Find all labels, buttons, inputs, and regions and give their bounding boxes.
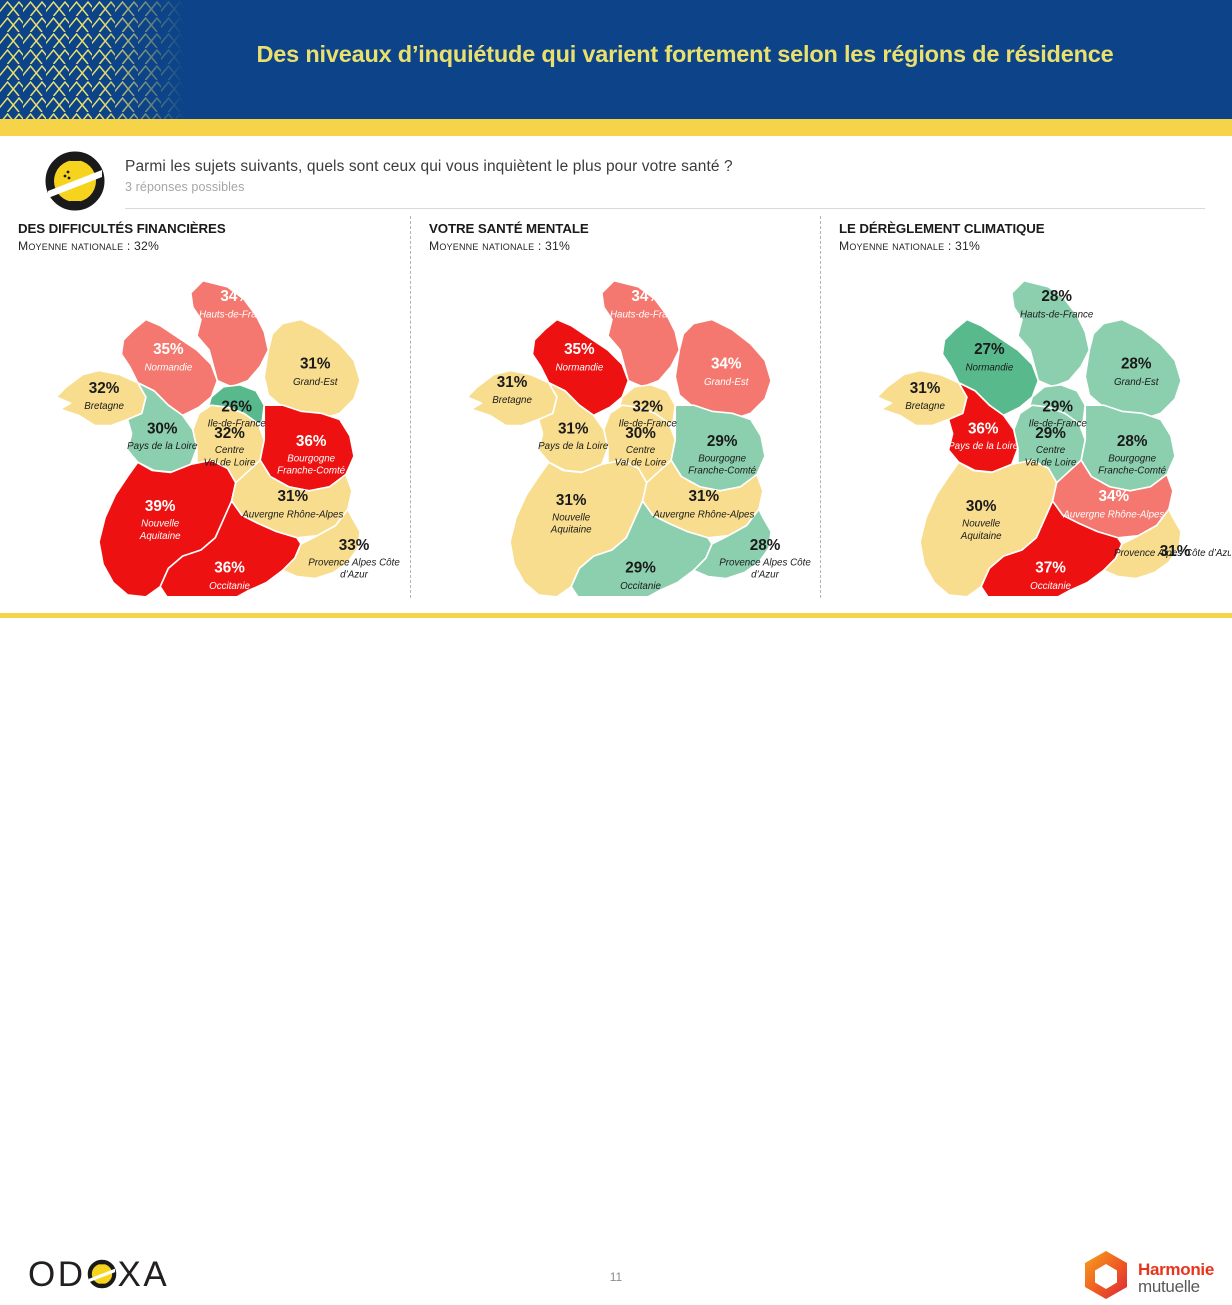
header-accent-bar bbox=[0, 119, 1232, 136]
region-value-bourgogne-franche-comte: 36% bbox=[296, 433, 327, 450]
france-map-2: 34%Hauts-de-France35%Normandie32%Ile-de-… bbox=[411, 238, 821, 596]
harmonie-mutuelle-logo: Harmonie mutuelle bbox=[1083, 1250, 1214, 1305]
region-value-normandie: 27% bbox=[974, 341, 1005, 358]
region-name-auvergne-rhone-alpes: Auvergne Rhône-Alpes bbox=[1062, 509, 1164, 520]
region-value-hauts-de-france: 28% bbox=[1041, 288, 1072, 305]
region-name-bretagne: Bretagne bbox=[84, 401, 124, 412]
panel-sante-mentale: VOTRE SANTÉ MENTALE Moyenne nationale : … bbox=[410, 216, 820, 598]
region-name-normandie: Normandie bbox=[965, 362, 1013, 373]
question-block: Parmi les sujets suivants, quels sont ce… bbox=[125, 158, 1205, 194]
region-value-centre-val-de-loire: 32% bbox=[214, 425, 245, 442]
page-title: Des niveaux d’inquiétude qui varient for… bbox=[185, 41, 1185, 68]
region-value-auvergne-rhone-alpes: 31% bbox=[689, 488, 720, 505]
france-map-3: 28%Hauts-de-France27%Normandie29%Ile-de-… bbox=[821, 238, 1231, 596]
region-value-nouvelle-aquitaine: 31% bbox=[556, 492, 587, 509]
region-value-grand-est: 28% bbox=[1121, 355, 1152, 372]
region-value-centre-val-de-loire: 29% bbox=[1035, 425, 1066, 442]
panel-title: LE DÉRÈGLEMENT CLIMATIQUE bbox=[839, 221, 1230, 236]
slide-header: Des niveaux d’inquiétude qui varient for… bbox=[0, 0, 1232, 119]
region-name-pays-de-la-loire: Pays de la Loire bbox=[127, 441, 198, 452]
region-value-normandie: 35% bbox=[564, 341, 595, 358]
region-name-grand-est: Grand-Est bbox=[704, 377, 750, 388]
region-value-bretagne: 31% bbox=[910, 380, 941, 397]
region-value-pays-de-la-loire: 30% bbox=[147, 421, 178, 438]
region-name-normandie: Normandie bbox=[144, 362, 192, 373]
region-value-occitanie: 29% bbox=[625, 559, 656, 576]
region-value-paca: 28% bbox=[750, 537, 781, 554]
region-value-normandie: 35% bbox=[153, 341, 184, 358]
region-name-pays-de-la-loire: Pays de la Loire bbox=[948, 441, 1019, 452]
region-value-hauts-de-france: 34% bbox=[220, 288, 251, 305]
region-name-occitanie: Occitanie bbox=[209, 581, 250, 592]
region-name-paca: Provence Alpes Côte d’Azur bbox=[1114, 548, 1231, 559]
harmonie-hexagon-icon bbox=[1083, 1250, 1129, 1305]
region-value-paca: 33% bbox=[339, 537, 370, 554]
region-value-auvergne-rhone-alpes: 34% bbox=[1099, 488, 1130, 505]
region-value-grand-est: 31% bbox=[300, 355, 331, 372]
question-note: 3 réponses possibles bbox=[125, 180, 1205, 194]
panel-title: DES DIFFICULTÉS FINANCIÈRES bbox=[18, 221, 410, 236]
region-name-hauts-de-france: Hauts-de-France bbox=[199, 309, 273, 320]
region-value-occitanie: 37% bbox=[1035, 559, 1066, 576]
region-name-grand-est: Grand-Est bbox=[1114, 377, 1160, 388]
question-divider bbox=[125, 208, 1205, 209]
region-name-nouvelle-aquitaine: NouvelleAquitaine bbox=[139, 519, 181, 542]
page-number: 11 bbox=[0, 1270, 1232, 1284]
panel-dereglement-climatique: LE DÉRÈGLEMENT CLIMATIQUE Moyenne nation… bbox=[820, 216, 1230, 598]
region-value-hauts-de-france: 34% bbox=[631, 288, 662, 305]
odoxa-logo-icon bbox=[44, 150, 106, 212]
region-value-bretagne: 31% bbox=[497, 374, 528, 391]
region-value-nouvelle-aquitaine: 30% bbox=[966, 498, 997, 515]
region-value-pays-de-la-loire: 31% bbox=[558, 421, 589, 438]
region-name-pays-de-la-loire: Pays de la Loire bbox=[538, 441, 609, 452]
region-name-occitanie: Occitanie bbox=[1030, 581, 1071, 592]
panel-title: VOTRE SANTÉ MENTALE bbox=[429, 221, 820, 236]
region-value-bourgogne-franche-comte: 28% bbox=[1117, 433, 1148, 450]
question-text: Parmi les sujets suivants, quels sont ce… bbox=[125, 158, 1205, 176]
region-name-hauts-de-france: Hauts-de-France bbox=[610, 309, 684, 320]
region-value-occitanie: 36% bbox=[214, 559, 245, 576]
region-name-auvergne-rhone-alpes: Auvergne Rhône-Alpes bbox=[241, 509, 343, 520]
region-value-centre-val-de-loire: 30% bbox=[625, 425, 656, 442]
region-value-ile-de-france: 29% bbox=[1042, 398, 1073, 415]
region-value-pays-de-la-loire: 36% bbox=[968, 421, 999, 438]
region-name-nouvelle-aquitaine: NouvelleAquitaine bbox=[960, 519, 1002, 542]
chevron-decoration bbox=[0, 0, 185, 119]
region-value-ile-de-france: 26% bbox=[221, 398, 252, 415]
region-name-bretagne: Bretagne bbox=[905, 401, 945, 412]
region-value-ile-de-france: 32% bbox=[632, 398, 663, 415]
region-name-auvergne-rhone-alpes: Auvergne Rhône-Alpes bbox=[652, 509, 754, 520]
region-name-occitanie: Occitanie bbox=[620, 581, 661, 592]
region-name-normandie: Normandie bbox=[555, 362, 603, 373]
harmonie-line-1: Harmonie bbox=[1138, 1261, 1214, 1278]
region-value-nouvelle-aquitaine: 39% bbox=[145, 498, 176, 515]
panel-difficultes-financieres: DES DIFFICULTÉS FINANCIÈRES Moyenne nati… bbox=[0, 216, 410, 598]
region-name-grand-est: Grand-Est bbox=[293, 377, 339, 388]
region-name-nouvelle-aquitaine: NouvelleAquitaine bbox=[550, 512, 592, 535]
region-value-auvergne-rhone-alpes: 31% bbox=[278, 488, 309, 505]
slide-footer: OD XA 11 bbox=[0, 618, 1232, 694]
harmonie-line-2: mutuelle bbox=[1138, 1278, 1214, 1295]
maps-row: DES DIFFICULTÉS FINANCIÈRES Moyenne nati… bbox=[0, 216, 1232, 598]
region-value-bourgogne-franche-comte: 29% bbox=[707, 433, 738, 450]
region-name-hauts-de-france: Hauts-de-France bbox=[1020, 309, 1094, 320]
region-name-bretagne: Bretagne bbox=[492, 395, 532, 406]
region-value-bretagne: 32% bbox=[89, 380, 120, 397]
harmonie-text: Harmonie mutuelle bbox=[1138, 1261, 1214, 1295]
region-value-grand-est: 34% bbox=[711, 355, 742, 372]
france-map-1: 34%Hauts-de-France35%Normandie26%Ile-de-… bbox=[0, 238, 410, 596]
